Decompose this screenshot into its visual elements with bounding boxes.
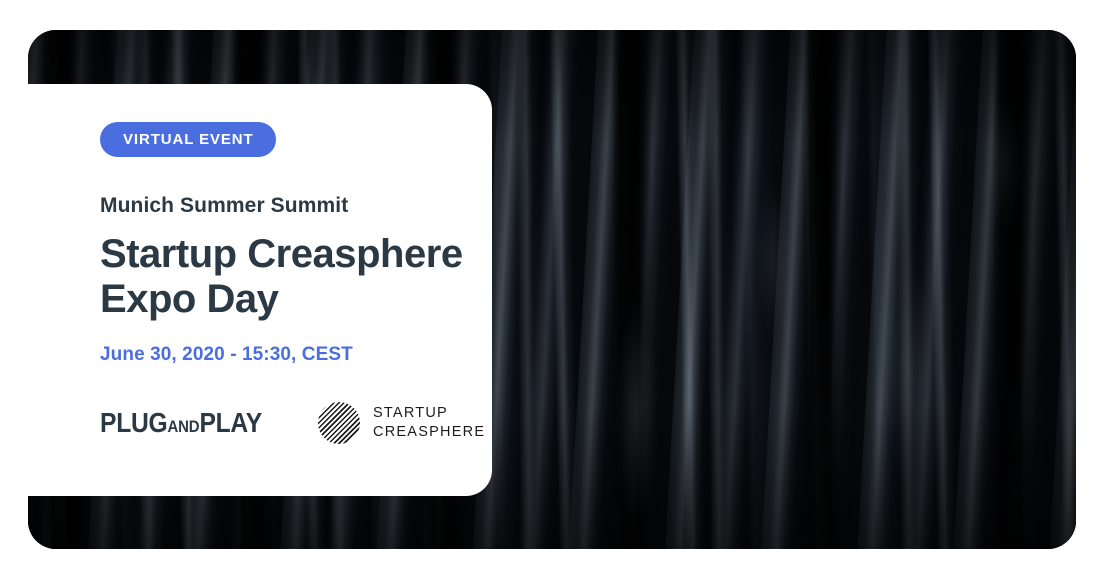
startup-creasphere-logo-line-2: CREASPHERE	[373, 423, 485, 442]
page-title-line-2: Expo Day	[100, 277, 480, 322]
page-title: Startup Creasphere Expo Day	[100, 232, 480, 322]
startup-creasphere-logo-line-1: STARTUP	[373, 404, 485, 423]
plug-and-play-logo-plug: PLUG	[100, 409, 167, 437]
event-datetime: June 30, 2020 - 15:30, CEST	[100, 344, 492, 366]
striped-circle-icon	[318, 402, 360, 444]
startup-creasphere-logo: STARTUP CREASPHERE	[318, 402, 485, 444]
plug-and-play-logo-and: AND	[167, 418, 199, 435]
event-kicker: Munich Summer Summit	[100, 193, 492, 218]
plug-and-play-logo: PLUG AND PLAY	[100, 409, 262, 437]
plug-and-play-logo-play: PLAY	[199, 409, 261, 437]
page-title-line-1: Startup Creasphere	[100, 232, 480, 277]
status-badge-virtual-event: VIRTUAL EVENT	[100, 122, 276, 157]
logo-row: PLUG AND PLAY STARTUP CREASPHERE	[100, 402, 492, 444]
startup-creasphere-logo-text: STARTUP CREASPHERE	[373, 404, 485, 441]
event-info-card: VIRTUAL EVENT Munich Summer Summit Start…	[0, 84, 492, 496]
